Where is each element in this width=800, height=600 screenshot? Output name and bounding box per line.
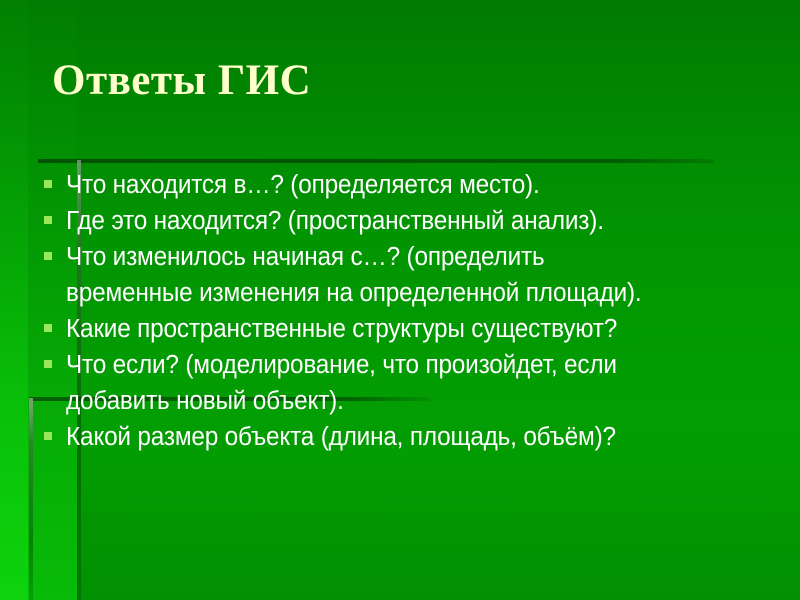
list-item: Какой размер объекта (длина, площадь, об… [42, 419, 777, 455]
left-accent-band-bright [0, 0, 28, 600]
list-item: Какие пространственные структуры существ… [42, 311, 777, 347]
secondary-placeholder-left-edge [29, 398, 33, 600]
bullet-list: Что находится в…? (определяется место). … [42, 167, 777, 455]
bullet-square-icon [44, 252, 52, 260]
list-item-text: добавить новый объект). [66, 383, 745, 419]
list-item-text: временные изменения на определенной площ… [66, 275, 745, 311]
list-item-text: Какой размер объекта (длина, площадь, об… [66, 419, 745, 455]
list-item: Что находится в…? (определяется место). [42, 167, 777, 203]
list-item-continuation: временные изменения на определенной площ… [42, 275, 777, 311]
bullet-square-icon [44, 432, 52, 440]
content-placeholder-top-edge [38, 159, 714, 163]
list-item-text: Какие пространственные структуры существ… [66, 311, 745, 347]
list-item: Что изменилось начиная с…? (определить [42, 239, 777, 275]
bullet-square-icon [44, 324, 52, 332]
list-item-text: Что изменилось начиная с…? (определить [66, 239, 745, 275]
list-item: Что если? (моделирование, что произойдет… [42, 347, 777, 383]
bullet-square-icon [44, 216, 52, 224]
bullet-square-icon [44, 180, 52, 188]
bullet-square-icon [44, 360, 52, 368]
list-item-continuation: добавить новый объект). [42, 383, 777, 419]
list-item-text: Где это находится? (пространственный ана… [66, 203, 745, 239]
list-item-text: Что если? (моделирование, что произойдет… [66, 347, 745, 383]
slide-title: Ответы ГИС [52, 56, 311, 106]
list-item-text: Что находится в…? (определяется место). [66, 167, 745, 203]
presentation-slide: Ответы ГИС Что находится в…? (определяет… [0, 0, 800, 600]
list-item: Где это находится? (пространственный ана… [42, 203, 777, 239]
